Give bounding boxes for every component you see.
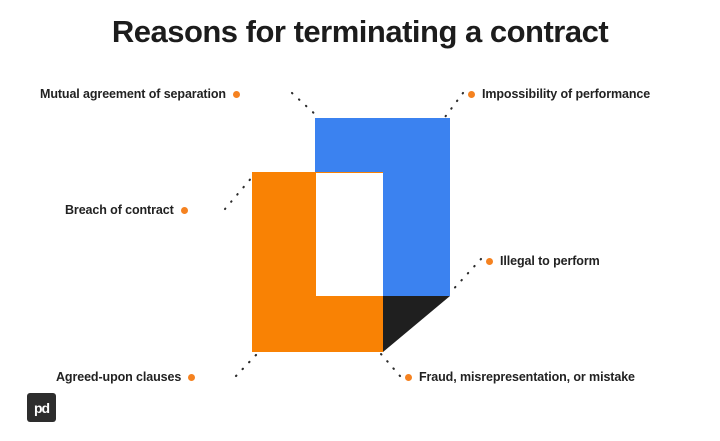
pandadoc-logo: pd [27,393,56,422]
label-impossibility-of-performance: Impossibility of performance [468,87,650,101]
leader-line-fraud [381,354,400,376]
leader-line-breach [225,176,253,209]
label-fraud-misrepresentation: Fraud, misrepresentation, or mistake [405,370,635,384]
white-notch [316,173,383,296]
leader-line-agreed [236,355,256,376]
label-breach-of-contract-text: Breach of contract [65,203,174,217]
bullet-dot-icon [405,374,412,381]
leader-line-illegal [449,259,481,294]
label-mutual-agreement: Mutual agreement of separation [40,87,240,101]
bullet-dot-icon [486,258,493,265]
leader-line-impossible [445,93,463,117]
bullet-dot-icon [188,374,195,381]
label-impossibility-of-performance-text: Impossibility of performance [482,87,650,101]
pandadoc-logo-text: pd [34,401,49,415]
label-agreed-upon-clauses: Agreed-upon clauses [56,370,195,384]
label-agreed-upon-clauses-text: Agreed-upon clauses [56,370,181,384]
leader-line-mutual [292,93,317,116]
label-illegal-to-perform: Illegal to perform [486,254,600,268]
black-triangle [383,296,450,352]
label-fraud-misrepresentation-text: Fraud, misrepresentation, or mistake [419,370,635,384]
bullet-dot-icon [468,91,475,98]
label-mutual-agreement-text: Mutual agreement of separation [40,87,226,101]
infographic-canvas: Reasons for terminating a contract Mutua… [0,0,720,441]
bullet-dot-icon [233,91,240,98]
label-breach-of-contract: Breach of contract [65,203,188,217]
bullet-dot-icon [181,207,188,214]
label-illegal-to-perform-text: Illegal to perform [500,254,600,268]
